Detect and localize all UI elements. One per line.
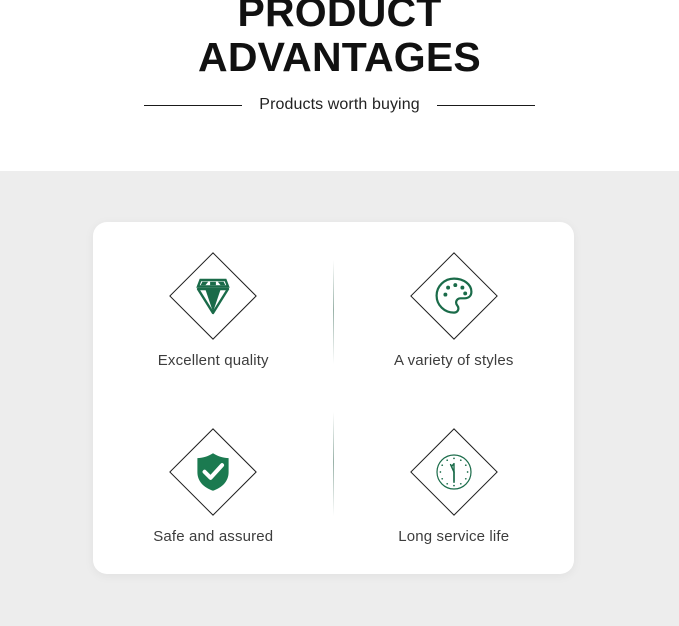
page-title: PRODUCT ADVANTAGES [0,0,679,80]
diamond-frame [169,252,257,340]
feature-card: Excellent quality A variety of styles [93,222,574,574]
feature-grid: Excellent quality A variety of styles [93,222,574,574]
page-subtitle: Products worth buying [259,96,419,114]
subtitle-row: Products worth buying [0,96,679,114]
clock-icon [431,449,477,495]
feature-label: Long service life [398,528,509,545]
feature-tile-excellent-quality[interactable]: Excellent quality [93,222,334,398]
feature-tile-variety-of-styles[interactable]: A variety of styles [334,222,575,398]
feature-label: A variety of styles [394,352,514,369]
subtitle-rule-left [144,105,242,106]
header-band: PRODUCT ADVANTAGES Products worth buying [0,0,679,171]
feature-tile-long-service-life[interactable]: Long service life [334,398,575,574]
diamond-frame [169,428,257,516]
feature-label: Safe and assured [153,528,273,545]
feature-label: Excellent quality [158,352,269,369]
paint-palette-icon [431,273,477,319]
feature-tile-safe-and-assured[interactable]: Safe and assured [93,398,334,574]
diamond-gem-icon [190,273,236,319]
diamond-frame [410,428,498,516]
shield-check-icon [190,449,236,495]
diamond-frame [410,252,498,340]
subtitle-rule-right [437,105,535,106]
